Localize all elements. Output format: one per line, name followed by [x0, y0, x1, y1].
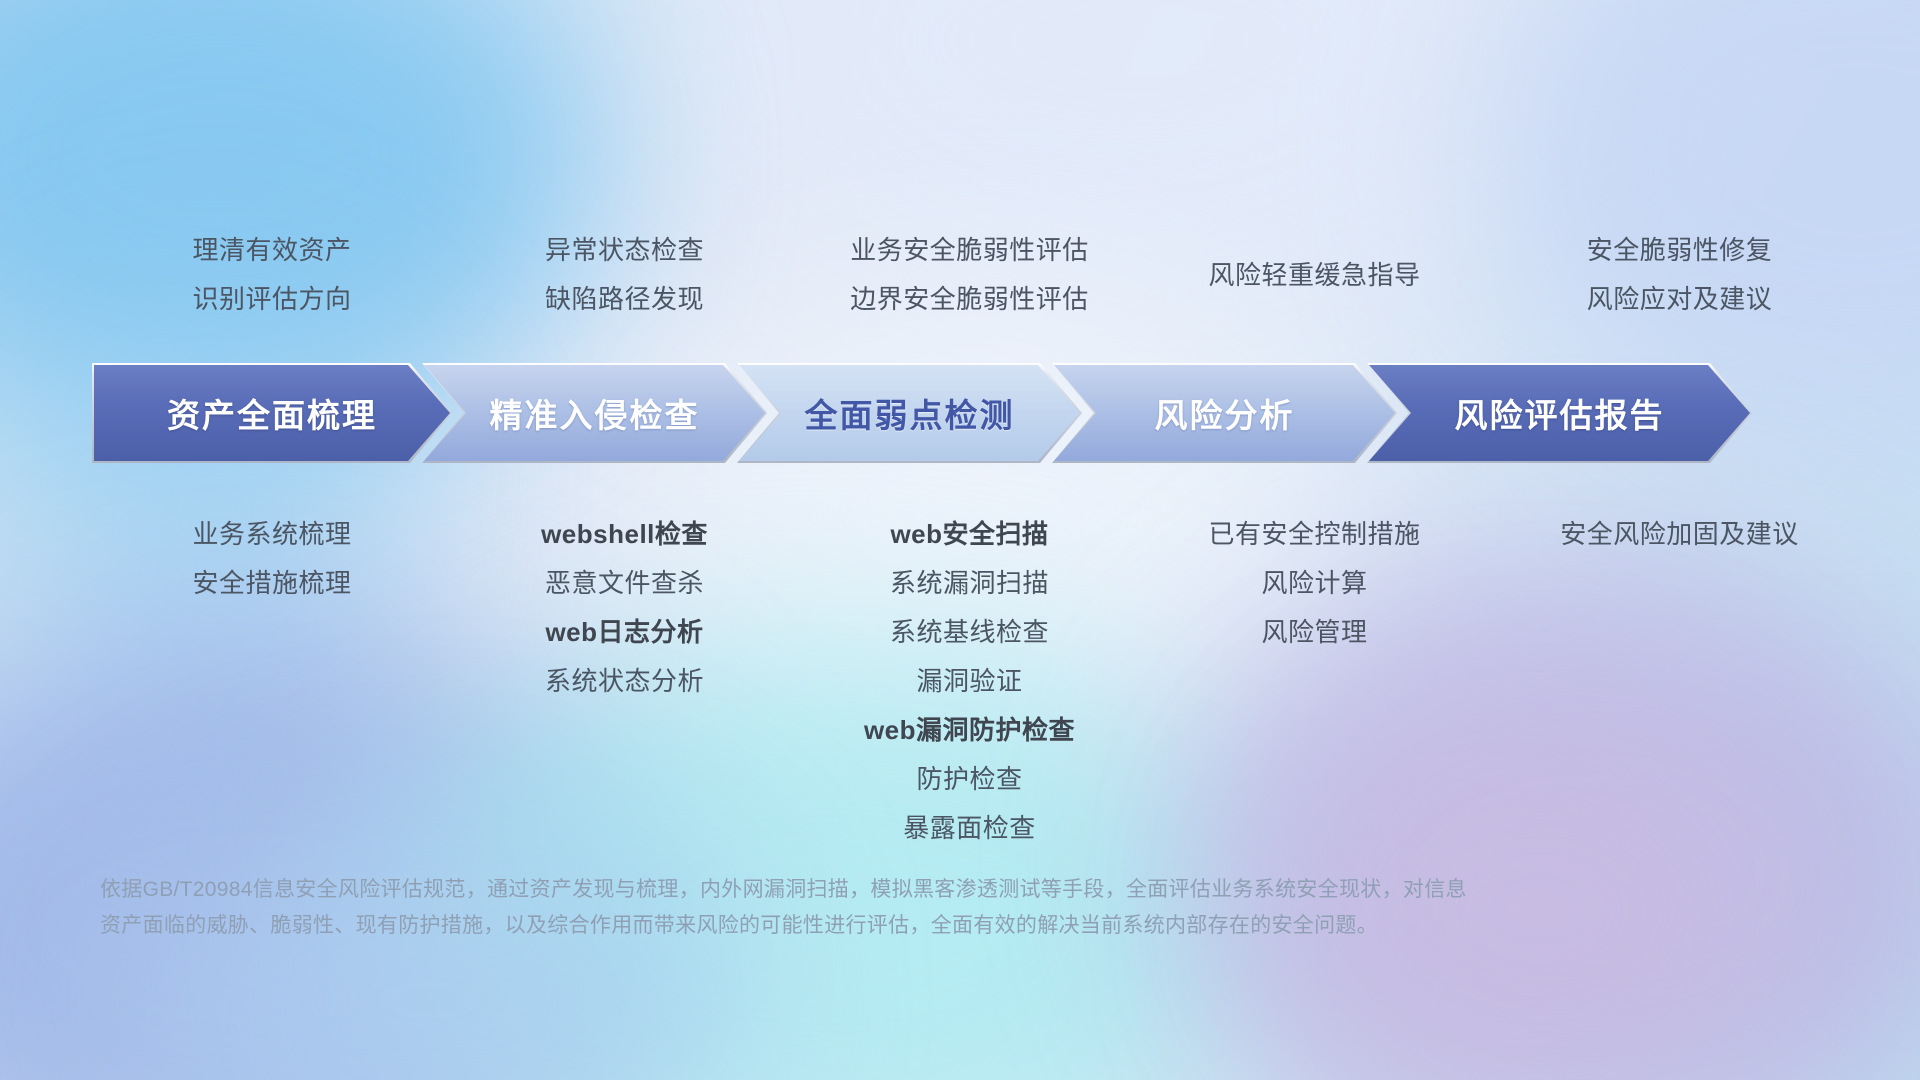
- stage-arrow-label: 风险评估报告: [1455, 389, 1665, 437]
- process-diagram: 理清有效资产 识别评估方向 异常状态检查 缺陷路径发现 业务安全脆弱性评估 边界…: [0, 0, 1920, 1080]
- top-caption-group-1: 理清有效资产 识别评估方向: [92, 226, 452, 324]
- top-caption-item: 边界安全脆弱性评估: [850, 275, 1089, 324]
- top-caption-group-4: 风险轻重缓急指导: [1142, 226, 1487, 300]
- bottom-caption-item: web日志分析: [545, 608, 703, 657]
- bottom-caption-item: 安全风险加固及建议: [1560, 510, 1799, 559]
- bottom-caption-group-5: 安全风险加固及建议: [1487, 510, 1872, 559]
- bottom-caption-item: 系统漏洞扫描: [890, 559, 1049, 608]
- footer-line-1: 依据GB/T20984信息安全风险评估规范，通过资产发现与梳理，内外网漏洞扫描，…: [100, 872, 1620, 908]
- bottom-caption-group-4: 已有安全控制措施 风险计算 风险管理: [1142, 510, 1487, 657]
- stage-arrow-2[interactable]: 精准入侵检查: [422, 363, 767, 463]
- top-caption-group-3: 业务安全脆弱性评估 边界安全脆弱性评估: [797, 226, 1142, 324]
- stage-arrow-label: 精准入侵检查: [490, 389, 700, 437]
- bottom-caption-item: 系统状态分析: [545, 657, 704, 706]
- top-caption-item: 风险应对及建议: [1587, 275, 1773, 324]
- bottom-caption-item: web漏洞防护检查: [864, 706, 1075, 755]
- bottom-caption-item: 暴露面检查: [903, 804, 1036, 853]
- top-caption-item: 业务安全脆弱性评估: [850, 226, 1089, 275]
- bottom-caption-item: 恶意文件查杀: [545, 559, 704, 608]
- top-caption-item: 风险轻重缓急指导: [1208, 251, 1420, 300]
- top-caption-item: 识别评估方向: [192, 275, 351, 324]
- bottom-caption-item: 风险管理: [1261, 608, 1367, 657]
- top-caption-group-5: 安全脆弱性修复 风险应对及建议: [1487, 226, 1872, 324]
- stage-arrow-label: 全面弱点检测: [805, 389, 1015, 437]
- footer-description: 依据GB/T20984信息安全风险评估规范，通过资产发现与梳理，内外网漏洞扫描，…: [100, 872, 1620, 944]
- bottom-caption-item: 风险计算: [1261, 559, 1367, 608]
- bottom-caption-group-2: webshell检查 恶意文件查杀 web日志分析 系统状态分析: [452, 510, 797, 706]
- bottom-caption-group-3: web安全扫描 系统漏洞扫描 系统基线检查 漏洞验证 web漏洞防护检查 防护检…: [797, 510, 1142, 853]
- bottom-caption-group-1: 业务系统梳理 安全措施梳理: [92, 510, 452, 608]
- bottom-caption-item: 业务系统梳理: [192, 510, 351, 559]
- stage-arrow-5[interactable]: 风险评估报告: [1367, 363, 1752, 463]
- stage-arrow-1[interactable]: 资产全面梳理: [92, 363, 452, 463]
- bottom-caption-item: 系统基线检查: [890, 608, 1049, 657]
- top-caption-group-2: 异常状态检查 缺陷路径发现: [452, 226, 797, 324]
- bottom-caption-item: webshell检查: [541, 510, 708, 559]
- top-caption-item: 理清有效资产: [192, 226, 351, 275]
- stage-arrow-label: 资产全面梳理: [167, 389, 377, 437]
- footer-line-2: 资产面临的威胁、脆弱性、现有防护措施，以及综合作用而带来风险的可能性进行评估，全…: [100, 908, 1620, 944]
- stage-arrow-3[interactable]: 全面弱点检测: [737, 363, 1082, 463]
- top-captions-row: 理清有效资产 识别评估方向 异常状态检查 缺陷路径发现 业务安全脆弱性评估 边界…: [0, 226, 1920, 324]
- bottom-caption-item: 安全措施梳理: [192, 559, 351, 608]
- stage-arrow-4[interactable]: 风险分析: [1052, 363, 1397, 463]
- top-caption-item: 缺陷路径发现: [545, 275, 704, 324]
- stage-arrow-band: 资产全面梳理 精准入侵检查 全面弱点检测 风险分析 风险评估报告: [92, 363, 1722, 463]
- bottom-caption-item: 防护检查: [916, 755, 1022, 804]
- bottom-caption-item: 已有安全控制措施: [1208, 510, 1420, 559]
- bottom-captions-row: 业务系统梳理 安全措施梳理 webshell检查 恶意文件查杀 web日志分析 …: [0, 510, 1920, 853]
- bottom-caption-item: web安全扫描: [890, 510, 1048, 559]
- top-caption-item: 安全脆弱性修复: [1587, 226, 1773, 275]
- bottom-caption-item: 漏洞验证: [916, 657, 1022, 706]
- stage-arrow-label: 风险分析: [1155, 389, 1295, 437]
- top-caption-item: 异常状态检查: [545, 226, 704, 275]
